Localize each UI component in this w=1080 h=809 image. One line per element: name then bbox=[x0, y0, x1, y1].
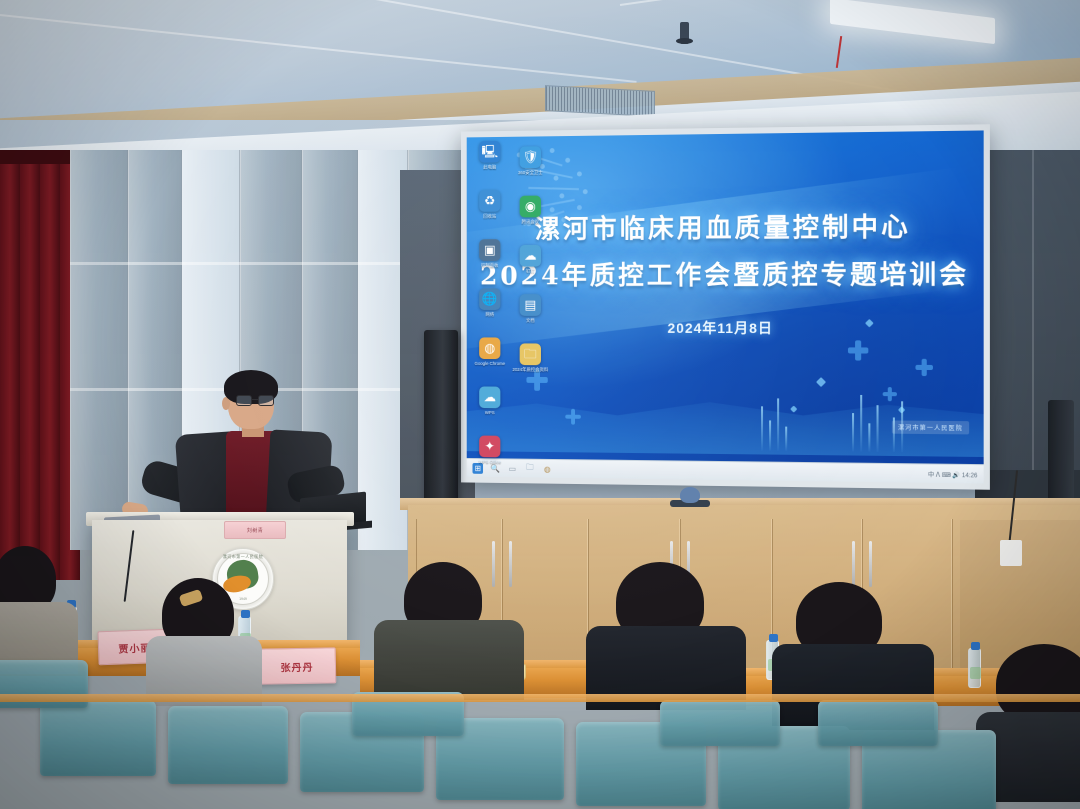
audience-seat bbox=[818, 700, 938, 746]
conference-room-photo: 漯河市临床用血质量控制中心 2024年质控工作会暨质控专题培训会 2024年11… bbox=[0, 0, 1080, 809]
desktop-icon-glyph: ✦ bbox=[479, 436, 500, 458]
windows-taskbar[interactable]: ⊞ 🔍 ▭ 🗀 ◍ 中 ᐱ ⌨ 🔊 14:26 bbox=[467, 458, 984, 484]
desktop-icon-glyph: 🖳 bbox=[479, 141, 500, 163]
desktop-icon[interactable]: 🖳此电脑 bbox=[471, 141, 509, 183]
desktop-icon[interactable]: ☁WPS bbox=[471, 386, 509, 428]
nameplate-front-center-left: 张丹丹 bbox=[258, 647, 337, 684]
desktop-icon-label: Google Chrome bbox=[471, 361, 509, 367]
medical-cross-icon bbox=[883, 387, 897, 401]
podium-nameplate: 刘树青 bbox=[224, 521, 286, 539]
audience-person bbox=[150, 578, 260, 688]
desktop-icon-glyph: 🗀 bbox=[520, 343, 541, 365]
projected-slide[interactable]: 漯河市临床用血质量控制中心 2024年质控工作会暨质控专题培训会 2024年11… bbox=[467, 130, 984, 483]
desktop-icon-glyph: ◉ bbox=[520, 196, 541, 218]
curtain-rail bbox=[0, 150, 80, 164]
stage-curtain bbox=[0, 150, 80, 580]
desktop-icon[interactable]: ▤文档 bbox=[511, 294, 550, 335]
desktop-icon-column-2: 🛡360安全卫士◉腾讯会议☁钉钉▤文档🗀2024年质控会资料 bbox=[511, 146, 550, 393]
audience-seat bbox=[660, 700, 780, 746]
nameplate-text: 张丹丹 bbox=[280, 658, 313, 674]
audience-person bbox=[990, 644, 1080, 784]
desktop-icon-glyph: 🛡 bbox=[520, 146, 541, 168]
desktop-icon-glyph: ☁ bbox=[479, 386, 500, 408]
audience-person bbox=[382, 562, 522, 692]
small-white-device bbox=[1000, 540, 1022, 566]
desk-row2-top bbox=[0, 694, 1080, 702]
audience-seat bbox=[40, 700, 156, 776]
desktop-icon-glyph: ▣ bbox=[479, 239, 500, 261]
desktop-icon[interactable]: ▣控制面板 bbox=[471, 239, 509, 280]
desktop-icon-label: WPS Office bbox=[471, 459, 509, 465]
desktop-icon-glyph: ◍ bbox=[479, 337, 500, 359]
desktop-icon[interactable]: ✦WPS Office bbox=[471, 435, 509, 477]
ptz-camera-icon bbox=[680, 487, 700, 503]
podium-nameplate-text: 刘树青 bbox=[247, 527, 264, 534]
desktop-icon-column-1: 🖳此电脑♻回收站▣控制面板🌐网络◍Google Chrome☁WPS✦WPS O… bbox=[471, 141, 509, 484]
sparkle-icon bbox=[816, 377, 826, 387]
explorer-icon[interactable]: 🗀 bbox=[525, 463, 536, 474]
projection-screen-frame: 漯河市临床用血质量控制中心 2024年质控工作会暨质控专题培训会 2024年11… bbox=[461, 124, 990, 490]
sparkle-icon bbox=[790, 406, 797, 413]
browser-icon[interactable]: ◍ bbox=[542, 463, 553, 474]
system-tray[interactable]: 中 ᐱ ⌨ 🔊 14:26 bbox=[928, 469, 978, 479]
audience-person bbox=[592, 562, 742, 702]
desktop-icon-label: 网络 bbox=[471, 312, 509, 318]
medical-cross-icon bbox=[848, 340, 868, 360]
desktop-icon-area: 🖳此电脑♻回收站▣控制面板🌐网络◍Google Chrome☁WPS✦WPS O… bbox=[471, 140, 554, 141]
desktop-icon-glyph: ▤ bbox=[520, 294, 541, 316]
desktop-icon-label: WPS bbox=[471, 410, 509, 416]
sprinkler-head bbox=[680, 22, 689, 44]
desktop-icon-glyph: ☁ bbox=[520, 245, 541, 267]
desktop-icon[interactable]: 🛡360安全卫士 bbox=[511, 146, 550, 188]
desktop-icon-label: 回收站 bbox=[471, 214, 509, 220]
desktop-icon-label: 钉钉 bbox=[511, 269, 550, 275]
column-speaker-left bbox=[424, 330, 458, 520]
audience-person bbox=[0, 546, 84, 666]
desktop-icon[interactable]: ☁钉钉 bbox=[511, 245, 550, 287]
desktop-icon[interactable]: ♻回收站 bbox=[471, 190, 509, 232]
desktop-icon-label: 控制面板 bbox=[471, 263, 509, 269]
desktop-icon[interactable]: ◍Google Chrome bbox=[471, 337, 509, 378]
desktop-icon-glyph: 🌐 bbox=[479, 288, 500, 310]
desktop-icon-label: 此电脑 bbox=[471, 164, 509, 170]
ceiling-wire bbox=[836, 36, 842, 68]
desktop-icon[interactable]: 🌐网络 bbox=[471, 288, 509, 329]
glasses-icon bbox=[236, 395, 276, 406]
desktop-icon-glyph: ♻ bbox=[479, 190, 500, 212]
water-bottle bbox=[968, 648, 981, 688]
desktop-icon-label: 2024年质控会资料 bbox=[511, 367, 550, 373]
desktop-icon-label: 文档 bbox=[511, 318, 550, 324]
desktop-icon[interactable]: 🗀2024年质控会资料 bbox=[511, 343, 550, 385]
desktop-icon[interactable]: ◉腾讯会议 bbox=[511, 195, 550, 237]
slide-org-badge: 漯河市第一人民医院 bbox=[892, 420, 969, 434]
desktop-icon-label: 360安全卫士 bbox=[511, 170, 550, 176]
desktop-icon-label: 腾讯会议 bbox=[511, 219, 550, 225]
ceiling-light bbox=[830, 0, 995, 44]
audience-seat bbox=[168, 706, 288, 784]
medical-cross-icon bbox=[915, 359, 933, 376]
